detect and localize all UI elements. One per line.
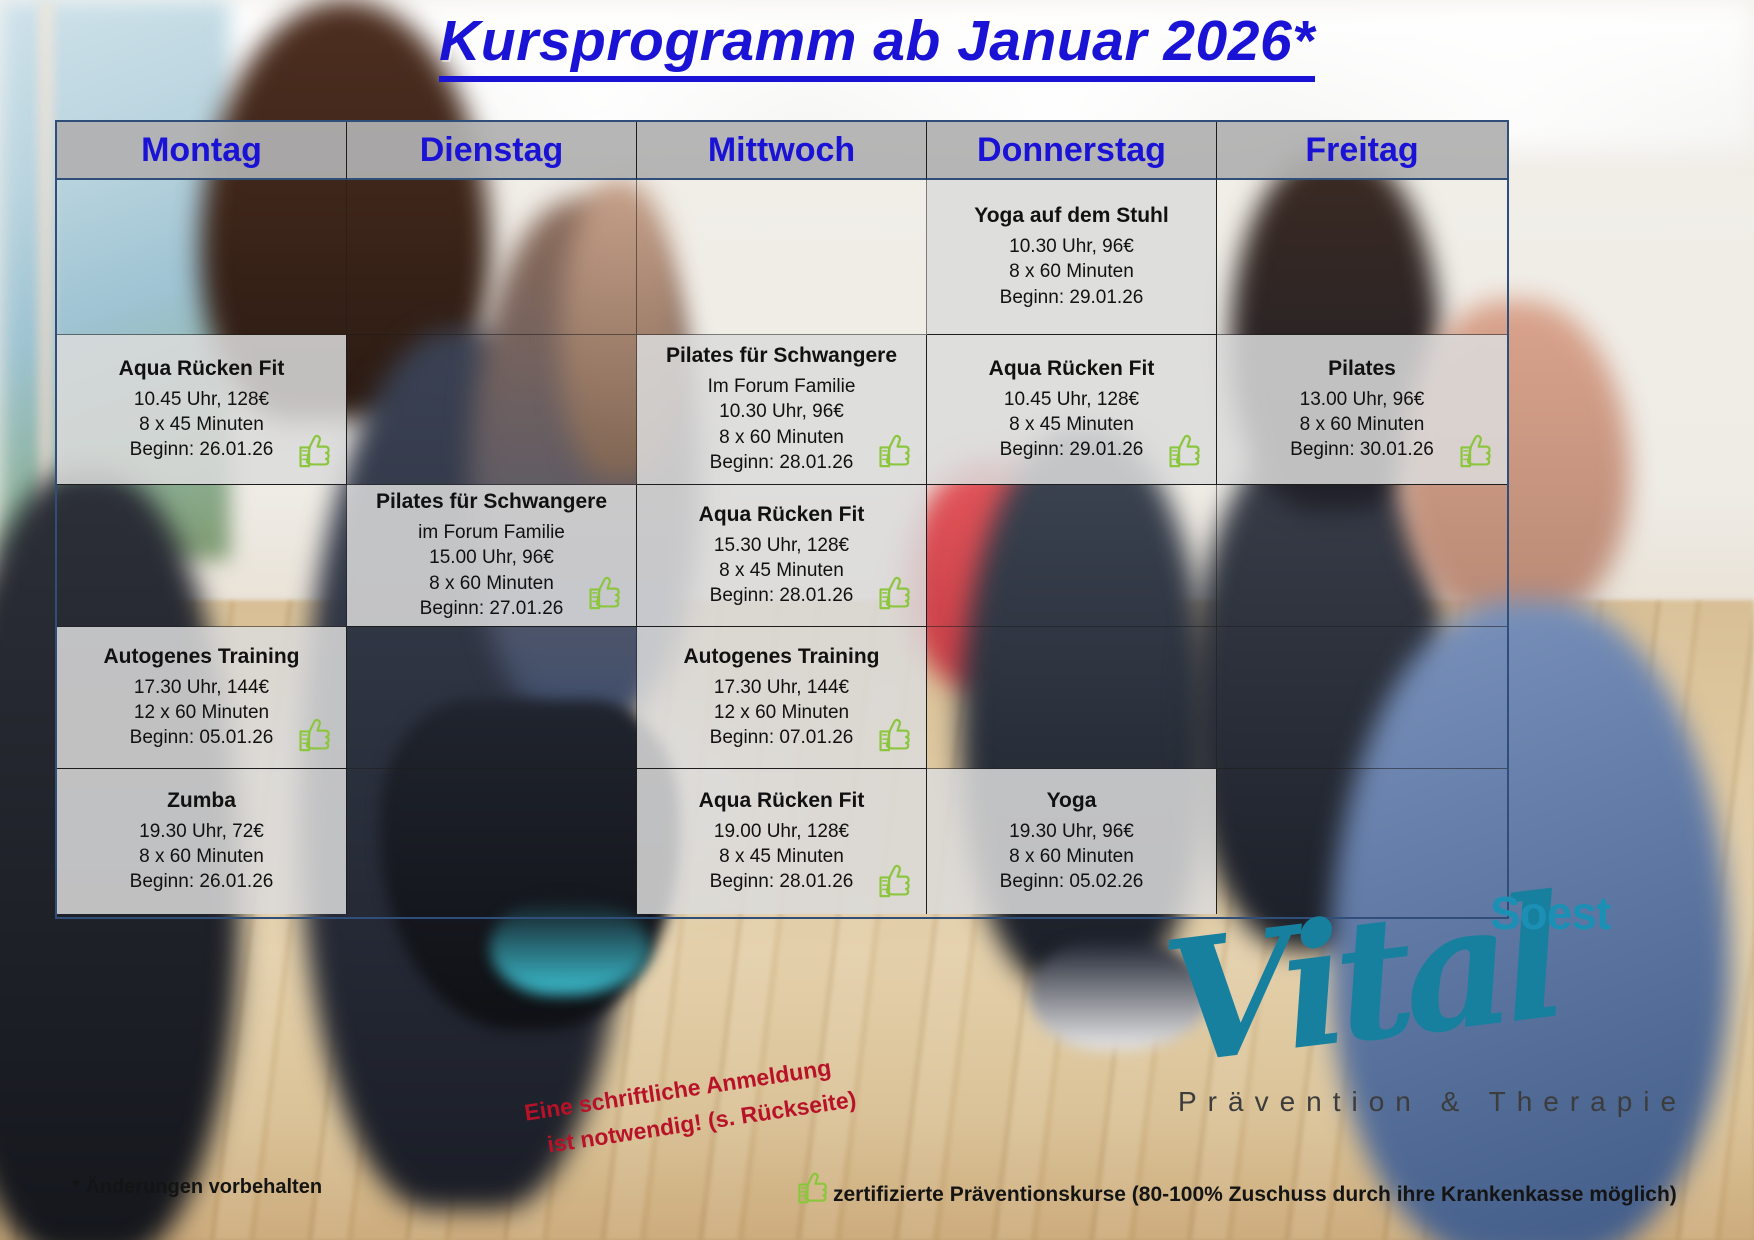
logo-city: Soest xyxy=(1490,886,1610,940)
empty-slot xyxy=(637,180,927,335)
course-sessions: 8 x 60 Minuten xyxy=(139,844,264,869)
course-start: Beginn: 28.01.26 xyxy=(710,583,854,608)
empty-slot xyxy=(1217,180,1507,335)
course-start: Beginn: 05.01.26 xyxy=(130,725,274,750)
course-name: Pilates xyxy=(1328,357,1396,380)
course-start: Beginn: 29.01.26 xyxy=(1000,285,1144,310)
empty-slot xyxy=(347,769,637,914)
course-time: 17.30 Uhr, 144€ xyxy=(714,675,849,700)
course-start: Beginn: 29.01.26 xyxy=(1000,437,1144,462)
empty-slot xyxy=(57,180,347,335)
course-name: Yoga auf dem Stuhl xyxy=(974,204,1168,227)
course-time: 19.00 Uhr, 128€ xyxy=(714,819,849,844)
empty-slot xyxy=(1217,627,1507,769)
page-title-text: Kursprogramm ab Januar 2026* xyxy=(439,8,1315,82)
column-header-label: Mittwoch xyxy=(708,131,855,170)
course-time: 19.30 Uhr, 72€ xyxy=(139,819,264,844)
column-header-label: Freitag xyxy=(1305,131,1418,170)
course-time: 13.00 Uhr, 96€ xyxy=(1300,387,1425,412)
course-start: Beginn: 27.01.26 xyxy=(420,596,564,621)
course-sessions: 12 x 60 Minuten xyxy=(134,700,269,725)
course-card-do-yoga[interactable]: Yoga 19.30 Uhr, 96€ 8 x 60 Minuten Begin… xyxy=(927,769,1217,914)
logo-vital-soest: Vital Soest Prävention & Therapie xyxy=(1168,938,1748,1138)
empty-slot xyxy=(347,335,637,485)
thumbs-up-icon xyxy=(1168,432,1202,468)
course-name: Pilates für Schwangere xyxy=(376,490,607,513)
course-time: 10.30 Uhr, 96€ xyxy=(719,399,844,424)
course-card-mo-zumba[interactable]: Zumba 19.30 Uhr, 72€ 8 x 60 Minuten Begi… xyxy=(57,769,347,914)
course-sessions: 8 x 45 Minuten xyxy=(139,412,264,437)
course-venue: Im Forum Familie xyxy=(708,374,856,399)
column-header-label: Dienstag xyxy=(420,131,564,170)
thumbs-up-icon xyxy=(298,716,332,752)
thumbs-up-icon xyxy=(298,432,332,468)
thumbs-up-icon xyxy=(878,432,912,468)
empty-slot xyxy=(347,180,637,335)
course-name: Zumba xyxy=(167,789,236,812)
course-venue: im Forum Familie xyxy=(418,520,565,545)
course-sessions: 8 x 60 Minuten xyxy=(429,571,554,596)
course-name: Autogenes Training xyxy=(103,645,299,668)
course-start: Beginn: 28.01.26 xyxy=(710,869,854,894)
course-sessions: 8 x 45 Minuten xyxy=(719,558,844,583)
course-time: 15.00 Uhr, 96€ xyxy=(429,545,554,570)
course-name: Yoga xyxy=(1047,789,1097,812)
course-name: Aqua Rücken Fit xyxy=(699,789,865,812)
empty-slot xyxy=(1217,485,1507,627)
course-time: 19.30 Uhr, 96€ xyxy=(1009,819,1134,844)
course-start: Beginn: 26.01.26 xyxy=(130,437,274,462)
course-start: Beginn: 26.01.26 xyxy=(130,869,274,894)
course-name: Aqua Rücken Fit xyxy=(119,357,285,380)
page-title: Kursprogramm ab Januar 2026* xyxy=(0,8,1754,82)
course-card-do-aqua[interactable]: Aqua Rücken Fit 10.45 Uhr, 128€ 8 x 45 M… xyxy=(927,335,1217,485)
thumbs-up-icon xyxy=(878,716,912,752)
column-header-montag: Montag xyxy=(57,122,347,180)
column-header-label: Donnerstag xyxy=(977,131,1166,170)
course-sessions: 8 x 45 Minuten xyxy=(1009,412,1134,437)
course-start: Beginn: 05.02.26 xyxy=(1000,869,1144,894)
course-time: 10.45 Uhr, 128€ xyxy=(1004,387,1139,412)
thumbs-up-icon xyxy=(588,574,622,610)
course-time: 10.45 Uhr, 128€ xyxy=(134,387,269,412)
logo-tagline: Prävention & Therapie xyxy=(1178,1086,1687,1118)
empty-slot xyxy=(927,627,1217,769)
column-header-freitag: Freitag xyxy=(1217,122,1507,180)
course-sessions: 8 x 60 Minuten xyxy=(719,425,844,450)
course-sessions: 8 x 60 Minuten xyxy=(1300,412,1425,437)
course-card-di-pilates-schwangere[interactable]: Pilates für Schwangere im Forum Familie … xyxy=(347,485,637,627)
course-card-mi-aqua-2[interactable]: Aqua Rücken Fit 19.00 Uhr, 128€ 8 x 45 M… xyxy=(637,769,927,914)
empty-slot xyxy=(57,485,347,627)
empty-slot xyxy=(927,485,1217,627)
thumbs-up-icon xyxy=(797,1170,829,1204)
course-card-mi-aqua-1[interactable]: Aqua Rücken Fit 15.30 Uhr, 128€ 8 x 45 M… xyxy=(637,485,927,627)
course-card-fr-pilates[interactable]: Pilates 13.00 Uhr, 96€ 8 x 60 Minuten Be… xyxy=(1217,335,1507,485)
thumbs-up-icon xyxy=(878,574,912,610)
certification-note: zertifizierte Präventionskurse (80-100% … xyxy=(833,1183,1677,1207)
course-start: Beginn: 28.01.26 xyxy=(710,450,854,475)
course-time: 10.30 Uhr, 96€ xyxy=(1009,234,1134,259)
course-card-mi-pilates-schwangere[interactable]: Pilates für Schwangere Im Forum Familie … xyxy=(637,335,927,485)
course-sessions: 8 x 60 Minuten xyxy=(1009,844,1134,869)
course-sessions: 12 x 60 Minuten xyxy=(714,700,849,725)
thumbs-up-icon xyxy=(1459,432,1493,468)
course-schedule-table: Montag Dienstag Mittwoch Donnerstag Frei… xyxy=(55,120,1509,919)
course-card-mo-aqua[interactable]: Aqua Rücken Fit 10.45 Uhr, 128€ 8 x 45 M… xyxy=(57,335,347,485)
course-card-mo-autogenes[interactable]: Autogenes Training 17.30 Uhr, 144€ 12 x … xyxy=(57,627,347,769)
course-name: Autogenes Training xyxy=(683,645,879,668)
course-name: Aqua Rücken Fit xyxy=(699,503,865,526)
thumbs-up-icon xyxy=(878,862,912,898)
course-card-mi-autogenes[interactable]: Autogenes Training 17.30 Uhr, 144€ 12 x … xyxy=(637,627,927,769)
course-name: Pilates für Schwangere xyxy=(666,344,897,367)
registration-note: Eine schriftliche Anmeldung ist notwendi… xyxy=(522,1043,888,1164)
course-time: 15.30 Uhr, 128€ xyxy=(714,533,849,558)
column-header-mittwoch: Mittwoch xyxy=(637,122,927,180)
course-start: Beginn: 07.01.26 xyxy=(710,725,854,750)
course-sessions: 8 x 45 Minuten xyxy=(719,844,844,869)
course-card-do-yoga-stuhl[interactable]: Yoga auf dem Stuhl 10.30 Uhr, 96€ 8 x 60… xyxy=(927,180,1217,335)
course-start: Beginn: 30.01.26 xyxy=(1290,437,1434,462)
course-sessions: 8 x 60 Minuten xyxy=(1009,259,1134,284)
changes-reserved-footnote: * Änderungen vorbehalten xyxy=(72,1176,322,1199)
course-time: 17.30 Uhr, 144€ xyxy=(134,675,269,700)
column-header-label: Montag xyxy=(141,131,262,170)
column-header-donnerstag: Donnerstag xyxy=(927,122,1217,180)
column-header-dienstag: Dienstag xyxy=(347,122,637,180)
empty-slot xyxy=(347,627,637,769)
course-name: Aqua Rücken Fit xyxy=(989,357,1155,380)
